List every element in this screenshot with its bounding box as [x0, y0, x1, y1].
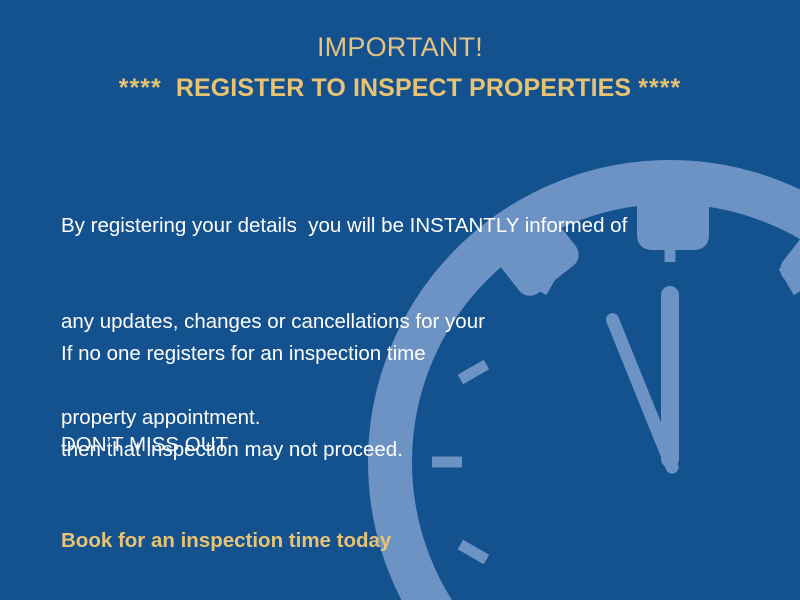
headline-group: IMPORTANT! **** REGISTER TO INSPECT PROP… [0, 30, 800, 106]
headline-important: IMPORTANT! [0, 30, 800, 64]
headline-stars-left: **** [119, 74, 162, 102]
headline-register-text: REGISTER TO INSPECT PROPERTIES [176, 74, 631, 102]
cta-book-inspection: Book for an inspection time today [61, 525, 391, 557]
slide-canvas: IMPORTANT! **** REGISTER TO INSPECT PROP… [0, 0, 800, 600]
cta-dont-miss-out: DON’T MISS OUT [61, 429, 391, 461]
headline-register: **** REGISTER TO INSPECT PROPERTIES **** [0, 70, 800, 106]
headline-stars-right: **** [638, 74, 681, 102]
paragraph-1-line-1: By registering your details you will be … [61, 210, 627, 242]
text-content-layer: IMPORTANT! **** REGISTER TO INSPECT PROP… [0, 0, 800, 600]
call-to-action-block: DON’T MISS OUT Book for an inspection ti… [61, 365, 391, 600]
